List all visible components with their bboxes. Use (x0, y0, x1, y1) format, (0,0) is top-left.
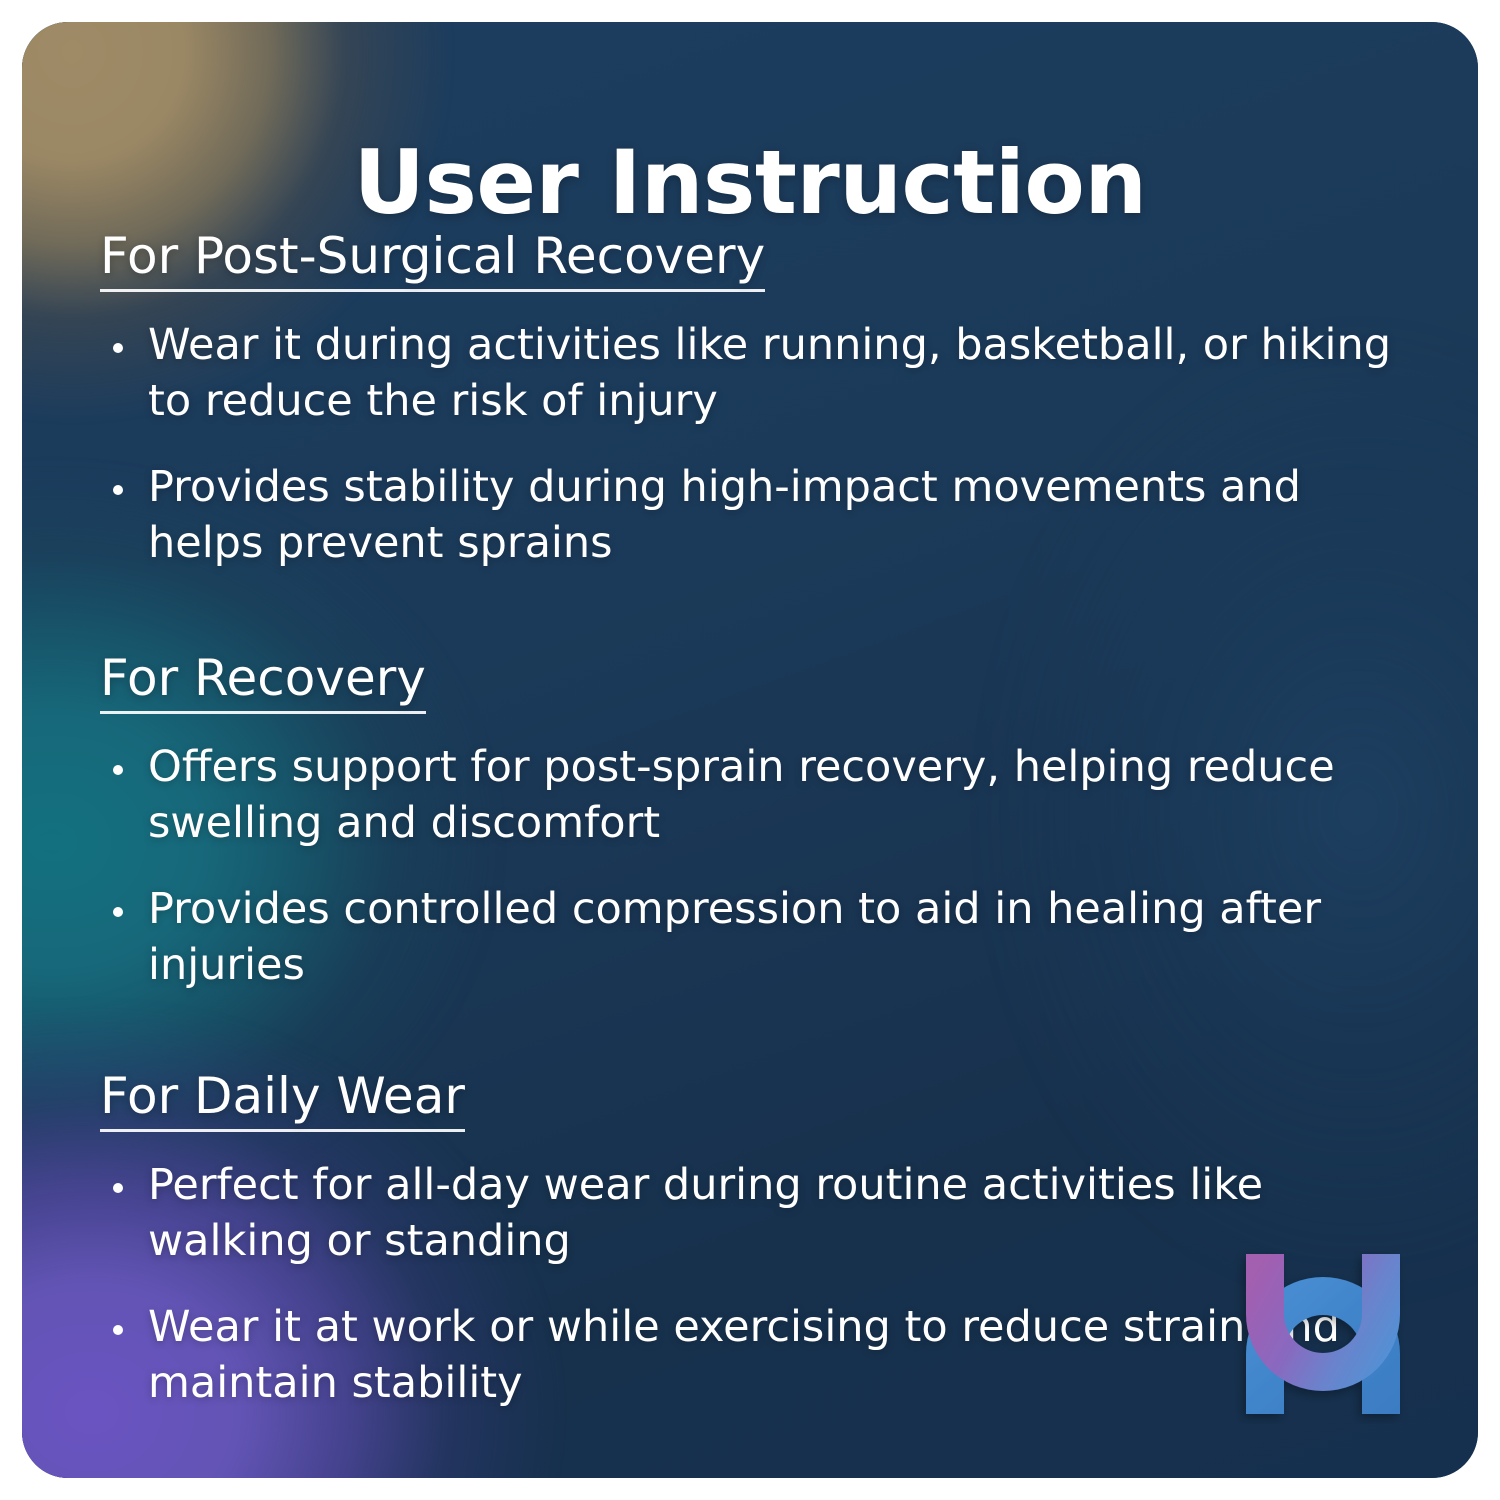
bullet-dot-icon (113, 343, 123, 353)
list-item: Wear it during activities like running, … (100, 318, 1418, 430)
bullet-dot-icon (113, 765, 123, 775)
section-recovery: For Recovery Offers support for post-spr… (100, 650, 1418, 994)
section-heading: For Daily Wear (100, 1068, 465, 1132)
list-item-label: Provides stability during high-impact mo… (148, 462, 1301, 568)
section-heading: For Post-Surgical Recovery (100, 228, 765, 292)
list-item-label: Wear it at work or while exercising to r… (148, 1302, 1340, 1408)
list-item: Wear it at work or while exercising to r… (100, 1300, 1418, 1412)
bullet-dot-icon (113, 907, 123, 917)
list-item: Provides controlled compression to aid i… (100, 882, 1418, 994)
section-post-surgical-recovery: For Post-Surgical Recovery Wear it durin… (100, 228, 1418, 572)
brand-x-logo-icon (1228, 1244, 1418, 1424)
list-item-label: Offers support for post-sprain recovery,… (148, 742, 1335, 848)
bullet-list: Perfect for all-day wear during routine … (100, 1158, 1418, 1412)
card-content: User Instruction For Post-Surgical Recov… (22, 22, 1478, 1478)
screenshot-canvas: User Instruction For Post-Surgical Recov… (0, 0, 1500, 1500)
bullet-list: Offers support for post-sprain recovery,… (100, 740, 1418, 994)
bullet-list: Wear it during activities like running, … (100, 318, 1418, 572)
user-instruction-card: User Instruction For Post-Surgical Recov… (22, 22, 1478, 1478)
section-daily-wear: For Daily Wear Perfect for all-day wear … (100, 1068, 1418, 1412)
page-title: User Instruction (22, 139, 1478, 227)
section-heading: For Recovery (100, 650, 426, 714)
list-item: Offers support for post-sprain recovery,… (100, 740, 1418, 852)
bullet-dot-icon (113, 485, 123, 495)
list-item: Provides stability during high-impact mo… (100, 460, 1418, 572)
list-item-label: Wear it during activities like running, … (148, 320, 1391, 426)
bullet-dot-icon (113, 1183, 123, 1193)
bullet-dot-icon (113, 1325, 123, 1335)
list-item: Perfect for all-day wear during routine … (100, 1158, 1418, 1270)
list-item-label: Perfect for all-day wear during routine … (148, 1160, 1263, 1266)
list-item-label: Provides controlled compression to aid i… (148, 884, 1321, 990)
